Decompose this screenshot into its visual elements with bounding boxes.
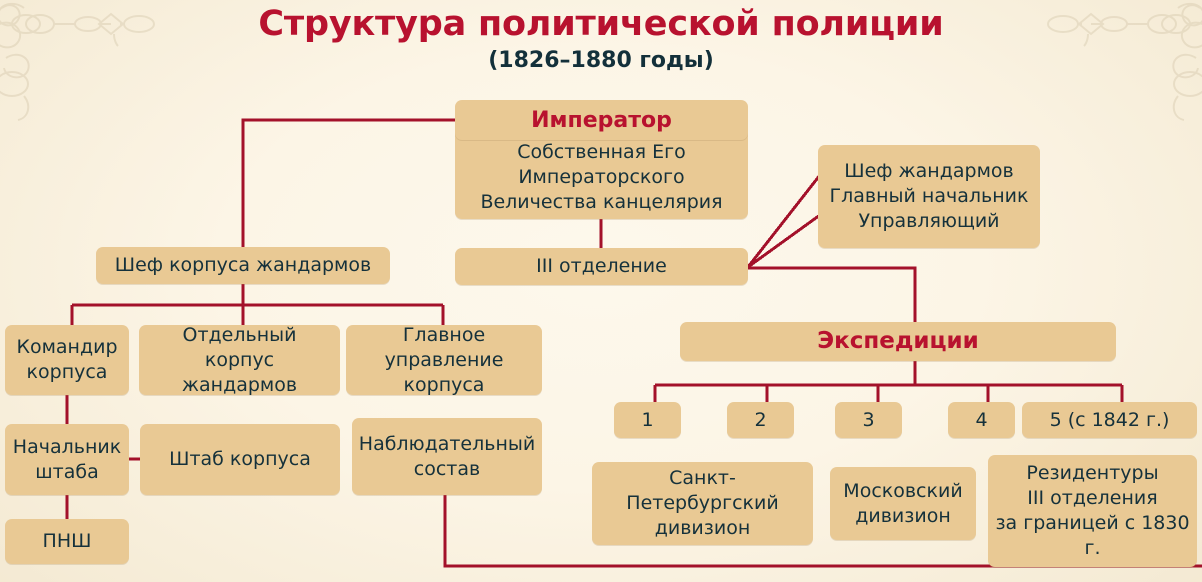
node-corps-staff-label: Штаб корпуса [169,447,311,472]
node-moscow-division-line2: дивизион [843,504,962,529]
node-pnsh-label: ПНШ [43,529,92,554]
node-foreign-residencies-line4: г. [995,536,1189,561]
title-block: Структура политической полиции (1826–188… [0,2,1202,76]
node-spb-division-line1: Санкт- [626,466,778,491]
node-gendarme-chief-line2: Главный начальник [830,184,1029,209]
node-expedition-3-label: 3 [862,408,874,433]
node-separate-gendarme-corps-line1: Отдельный корпус [146,323,333,373]
node-spb-division-line2: Петербургский [626,491,778,516]
node-emperor-label: Император [531,108,672,133]
node-expeditions[interactable]: Экспедиции [680,322,1116,361]
node-chief-of-gendarme-corps[interactable]: Шеф корпуса жандармов [96,247,390,284]
node-emperor[interactable]: Император [455,100,748,140]
node-expedition-1[interactable]: 1 [614,402,681,438]
node-observer-personnel[interactable]: Наблюдательный состав [352,418,542,495]
node-expedition-5[interactable]: 5 (с 1842 г.) [1022,402,1197,438]
node-third-department-label: III отделение [536,254,667,279]
node-expedition-4[interactable]: 4 [948,402,1015,438]
node-gendarme-chief-line3: Управляющий [830,209,1029,234]
node-chief-of-staff-line2: штаба [13,460,121,485]
node-third-department[interactable]: III отделение [455,248,748,285]
node-observer-personnel-line1: Наблюдательный [359,432,535,457]
page-title: Структура политической полиции [0,2,1202,46]
node-chief-of-staff-line1: Начальник [13,435,121,460]
node-main-corps-administration[interactable]: Главное управление корпуса [346,325,542,395]
node-pnsh[interactable]: ПНШ [5,519,129,564]
node-main-corps-administration-line1: Главное управление [353,323,535,373]
node-corps-commander-line1: Командир [16,335,117,360]
node-expedition-3[interactable]: 3 [835,402,902,438]
node-corps-staff[interactable]: Штаб корпуса [140,424,340,495]
node-separate-gendarme-corps-line2: жандармов [146,373,333,398]
node-expeditions-label: Экспедиции [817,329,979,354]
node-foreign-residencies-line3: за границей с 1830 [995,511,1189,536]
node-gendarme-chief-line1: Шеф жандармов [830,159,1029,184]
node-expedition-5-label: 5 (с 1842 г.) [1050,408,1170,433]
node-main-corps-administration-line2: корпуса [353,373,535,398]
node-expedition-2[interactable]: 2 [727,402,794,438]
node-foreign-residencies[interactable]: Резидентуры III отделения за границей с … [988,455,1197,567]
node-foreign-residencies-line2: III отделения [995,486,1189,511]
node-chancellery-line3: Величества канцелярия [480,190,722,215]
node-spb-division-line3: дивизион [626,516,778,541]
node-expedition-4-label: 4 [975,408,987,433]
node-chief-of-staff[interactable]: Начальник штаба [5,424,129,495]
node-spb-division[interactable]: Санкт- Петербургский дивизион [592,462,813,545]
node-foreign-residencies-line1: Резидентуры [995,461,1189,486]
diagram-canvas: Структура политической полиции (1826–188… [0,0,1202,582]
node-corps-commander-line2: корпуса [16,360,117,385]
node-expedition-1-label: 1 [641,408,653,433]
node-separate-gendarme-corps[interactable]: Отдельный корпус жандармов [139,325,340,395]
node-expedition-2-label: 2 [754,408,766,433]
node-chancellery-line1: Собственная Его [480,140,722,165]
node-chancellery-line2: Императорского [480,165,722,190]
node-moscow-division-line1: Московский [843,479,962,504]
node-gendarme-chief-roles[interactable]: Шеф жандармов Главный начальник Управляю… [818,145,1040,248]
node-observer-personnel-line2: состав [359,457,535,482]
page-subtitle: (1826–1880 годы) [0,46,1202,76]
node-corps-commander[interactable]: Командир корпуса [5,325,129,395]
node-moscow-division[interactable]: Московский дивизион [830,467,976,540]
node-chief-of-gendarme-corps-label: Шеф корпуса жандармов [115,253,371,278]
